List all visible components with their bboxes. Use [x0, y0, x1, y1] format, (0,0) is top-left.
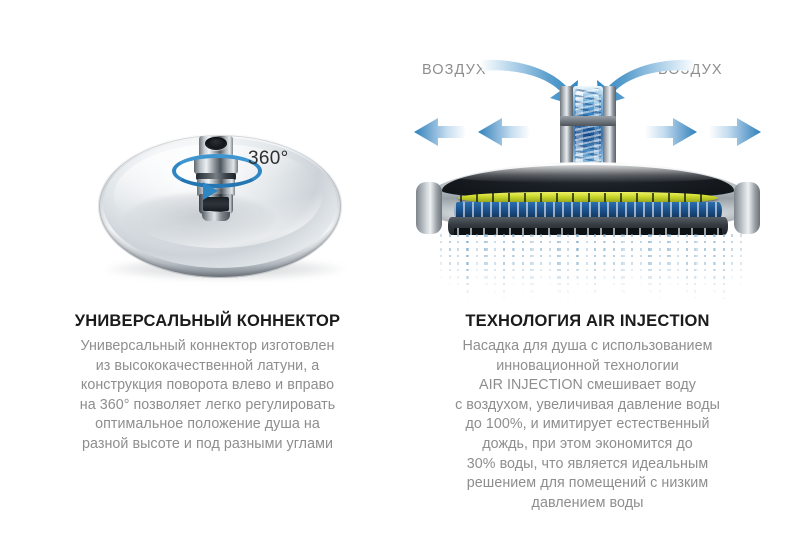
right-body-line: 30% воды, что является идеальным [400, 455, 775, 475]
left-body-line: Универсальный коннектор изготовлен [20, 337, 395, 357]
nozzle-wall-left [560, 86, 573, 172]
arrow-outflow-right-outer [709, 118, 761, 146]
spray-stream [567, 234, 569, 305]
shower-disc-illustration: 360° [20, 120, 395, 295]
left-body-line: конструкция поворота влево и вправо [20, 376, 395, 396]
spray-stream [613, 234, 615, 292]
spray-stream [686, 234, 688, 299]
spray-stream [740, 234, 742, 291]
spray-stream [503, 234, 505, 303]
spray-stream [586, 234, 588, 296]
spray-stream [604, 234, 606, 287]
spray-stream [696, 234, 698, 285]
spray-stream [513, 234, 515, 289]
spray-stream [714, 234, 716, 300]
spray-stream [704, 234, 706, 290]
spray-stream [669, 234, 671, 289]
right-body-line: инновационной технологии [400, 357, 775, 377]
infographic-page: 360° УНИВЕРСАЛЬНЫЙ КОННЕКТОР Универсальн… [0, 0, 790, 556]
panel-air-injection: ВОЗДУХ ВОЗДУХ [400, 0, 775, 556]
arrow-outflow-left-outer [414, 118, 466, 146]
connector-bore [205, 137, 227, 150]
spray-stream [631, 234, 633, 283]
head-side-left [416, 182, 442, 234]
spray-stream [650, 234, 652, 298]
spray-stream [440, 234, 442, 282]
right-body-line: решением для помещений с низким [400, 474, 775, 494]
right-heading: ТЕХНОЛОГИЯ AIR INJECTION [400, 311, 775, 331]
spray-stream [532, 234, 534, 304]
spray-stream [486, 234, 488, 293]
left-body-text: Универсальный коннектор изготовлен из вы… [20, 337, 395, 455]
rotation-arrow-icon [203, 182, 218, 200]
connector-base [202, 212, 230, 221]
left-body-line: оптимальное положение душа на [20, 415, 395, 435]
spray-stream [549, 234, 551, 290]
arrow-outflow-left-inner [478, 118, 530, 146]
head-rim-highlight [428, 163, 748, 183]
spray-stream [640, 234, 642, 288]
right-body-line: давлением воды [400, 494, 775, 514]
left-body-line: разной высоте и под разными углами [20, 435, 395, 455]
nozzle-assembly [560, 86, 616, 172]
spray-stream [659, 234, 661, 303]
right-body-line: AIR INJECTION смешивает воду [400, 376, 775, 396]
spray-stream [623, 234, 625, 302]
left-body-line: на 360° позволяет легко регулировать [20, 396, 395, 416]
nozzle-shelf [560, 116, 616, 126]
right-text-block: ТЕХНОЛОГИЯ AIR INJECTION Насадка для душ… [400, 311, 775, 513]
air-injection-illustration: ВОЗДУХ ВОЗДУХ [400, 44, 775, 299]
nozzle-wall-right [603, 86, 616, 172]
water-spray [440, 234, 740, 304]
spray-stream [677, 234, 679, 294]
right-body-line: до 100%, и имитирует естественный [400, 415, 775, 435]
spray-stream [723, 234, 725, 305]
spray-stream [494, 234, 496, 298]
spray-stream [457, 234, 459, 292]
spray-stream [540, 234, 542, 285]
spray-stream [476, 234, 478, 283]
left-body-line: из высококачественной латуни, а [20, 357, 395, 377]
right-body-text: Насадка для душа с использованием иннова… [400, 337, 775, 513]
right-body-line: дождь, при этом экономится до [400, 435, 775, 455]
left-heading: УНИВЕРСАЛЬНЫЙ КОННЕКТОР [20, 311, 395, 331]
arrow-outflow-right-inner [645, 118, 697, 146]
spray-stream [467, 234, 469, 302]
rotation-degrees-label: 360° [248, 148, 289, 170]
spray-stream [594, 234, 596, 301]
water-turbulence [575, 88, 601, 170]
right-body-line: с воздухом, увеличивая давление воды [400, 396, 775, 416]
spray-stream [522, 234, 524, 294]
right-body-line: Насадка для душа с использованием [400, 337, 775, 357]
panel-universal-connector: 360° УНИВЕРСАЛЬНЫЙ КОННЕКТОР Универсальн… [20, 0, 395, 556]
left-text-block: УНИВЕРСАЛЬНЫЙ КОННЕКТОР Универсальный ко… [20, 311, 395, 455]
spray-stream [449, 234, 451, 287]
spray-stream [577, 234, 579, 291]
spray-stream [559, 234, 561, 300]
spray-stream [731, 234, 733, 286]
head-side-right [734, 182, 760, 234]
